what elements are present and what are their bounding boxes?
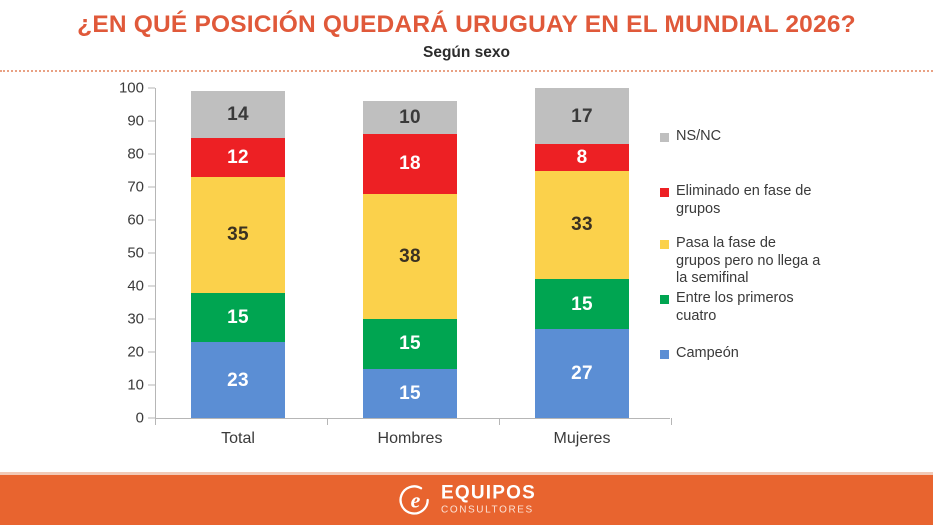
y-axis-tick-mark	[148, 319, 155, 320]
y-axis-tick-mark	[148, 154, 155, 155]
bar-segment-value: 33	[571, 215, 593, 234]
bar-segment-value: 17	[571, 107, 593, 126]
bar-segment[interactable]: 14	[191, 91, 285, 137]
bar-segment[interactable]: 17	[535, 88, 629, 144]
y-axis-tick-mark	[148, 385, 155, 386]
bars-layer: 23153512141515381810271533817	[155, 88, 670, 418]
bar-segment[interactable]: 18	[363, 134, 457, 193]
bar-segment-value: 8	[577, 148, 588, 167]
x-axis-category-label: Total	[158, 430, 318, 448]
bar-segment-value: 14	[227, 105, 249, 124]
legend-label: NS/NC	[676, 128, 721, 146]
y-axis-tick-label: 20	[100, 344, 144, 361]
x-axis-tick-mark	[499, 418, 500, 425]
y-axis-tick-label: 70	[100, 179, 144, 196]
bar-segment[interactable]: 23	[191, 342, 285, 418]
bar-segment-value: 15	[227, 308, 249, 327]
y-axis-tick-mark	[148, 253, 155, 254]
bar-group: 271533817	[535, 88, 629, 418]
svg-text:e: e	[410, 488, 420, 512]
y-axis-tick-mark	[148, 187, 155, 188]
legend-item[interactable]: Entre los primeros cuatro	[660, 290, 824, 325]
bar-segment[interactable]: 15	[191, 293, 285, 343]
bar-segment-value: 15	[399, 334, 421, 353]
y-axis-tick-mark	[148, 121, 155, 122]
bar-segment[interactable]: 15	[363, 369, 457, 419]
legend-swatch-icon	[660, 350, 669, 359]
bar-segment[interactable]: 38	[363, 194, 457, 319]
y-axis-tick-label: 40	[100, 278, 144, 295]
y-axis-tick-label: 60	[100, 212, 144, 229]
bar-segment[interactable]: 12	[191, 138, 285, 178]
equipos-logo: e EQUIPOS CONSULTORES	[397, 483, 536, 518]
bar-group: 2315351214	[191, 88, 285, 418]
x-axis-category-label: Mujeres	[502, 430, 662, 448]
x-axis-tick-mark	[327, 418, 328, 425]
legend-item[interactable]: Pasa la fase de grupos pero no llega a l…	[660, 235, 824, 288]
bar-segment-value: 38	[399, 247, 421, 266]
legend-label: Pasa la fase de grupos pero no llega a l…	[676, 235, 824, 288]
y-axis-tick-mark	[148, 352, 155, 353]
bar-segment-value: 23	[227, 371, 249, 390]
y-axis: 0102030405060708090100	[100, 88, 144, 418]
y-axis-tick-mark	[148, 418, 155, 419]
legend-swatch-icon	[660, 133, 669, 142]
y-axis-tick-label: 30	[100, 311, 144, 328]
y-axis-tick-label: 100	[100, 80, 144, 97]
y-axis-tick-label: 50	[100, 245, 144, 262]
bar-segment[interactable]: 10	[363, 101, 457, 134]
chart-header: ¿EN QUÉ POSICIÓN QUEDARÁ URUGUAY EN EL M…	[0, 0, 933, 72]
y-axis-tick-mark	[148, 220, 155, 221]
bar-segment-value: 15	[571, 295, 593, 314]
bar-group: 1515381810	[363, 88, 457, 418]
legend-swatch-icon	[660, 188, 669, 197]
bar-segment-value: 35	[227, 225, 249, 244]
y-axis-tick-mark	[148, 88, 155, 89]
page-title: ¿EN QUÉ POSICIÓN QUEDARÁ URUGUAY EN EL M…	[0, 0, 933, 39]
logo-wordmark: EQUIPOS CONSULTORES	[441, 484, 536, 517]
y-axis-tick-label: 90	[100, 113, 144, 130]
legend-label: Eliminado en fase de grupos	[676, 183, 824, 218]
footer-band: e EQUIPOS CONSULTORES	[0, 475, 933, 525]
page-subtitle: Según sexo	[0, 39, 933, 61]
x-axis-category-label: Hombres	[330, 430, 490, 448]
bar-segment[interactable]: 35	[191, 177, 285, 293]
y-axis-tick-label: 10	[100, 377, 144, 394]
legend-swatch-icon	[660, 240, 669, 249]
bar-segment[interactable]: 33	[535, 171, 629, 280]
legend-item[interactable]: Campeón	[660, 345, 739, 363]
chart-legend: NS/NCEliminado en fase de gruposPasa la …	[660, 80, 925, 440]
bar-segment[interactable]: 8	[535, 144, 629, 170]
bar-segment[interactable]: 15	[535, 279, 629, 329]
bar-segment-value: 27	[571, 364, 593, 383]
bar-segment[interactable]: 27	[535, 329, 629, 418]
bar-segment-value: 18	[399, 154, 421, 173]
equipos-circle-e-icon: e	[397, 483, 432, 518]
logo-subtitle: CONSULTORES	[441, 504, 536, 516]
y-axis-tick-label: 0	[100, 410, 144, 427]
bar-segment-value: 15	[399, 384, 421, 403]
x-axis-tick-mark	[155, 418, 156, 425]
y-axis-tick-label: 80	[100, 146, 144, 163]
legend-label: Campeón	[676, 345, 739, 363]
legend-item[interactable]: Eliminado en fase de grupos	[660, 183, 824, 218]
legend-item[interactable]: NS/NC	[660, 128, 721, 146]
logo-name: EQUIPOS	[441, 484, 536, 504]
y-axis-tick-mark	[148, 286, 155, 287]
header-divider	[0, 70, 933, 72]
legend-swatch-icon	[660, 295, 669, 304]
bar-segment-value: 10	[399, 108, 421, 127]
bar-segment[interactable]: 15	[363, 319, 457, 369]
legend-label: Entre los primeros cuatro	[676, 290, 824, 325]
x-axis-line	[155, 418, 670, 419]
bar-segment-value: 12	[227, 148, 249, 167]
